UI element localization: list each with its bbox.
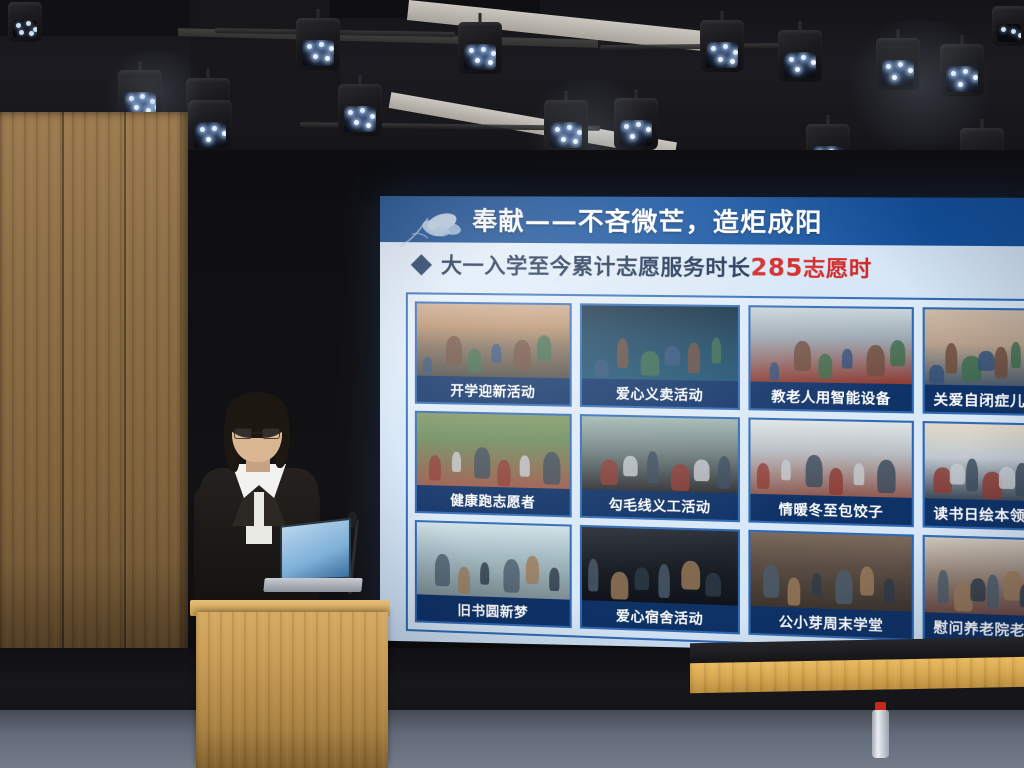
photo-figure xyxy=(681,560,700,589)
photo-figure xyxy=(1020,583,1024,608)
photo-figure xyxy=(711,338,720,364)
photo-card[interactable]: 爱心宿舍活动 xyxy=(580,525,741,635)
photo-caption: 健康跑志愿者 xyxy=(417,485,569,515)
stage-light-fixture xyxy=(338,84,382,136)
photo-scene xyxy=(925,309,1024,386)
photo-figure xyxy=(634,568,649,591)
photo-column-4: 关爱自闭症儿读书日绘本领慰问养老院老 xyxy=(923,307,1024,645)
stage-light-fixture xyxy=(940,44,984,96)
photo-figure xyxy=(853,463,864,485)
photo-figure xyxy=(458,566,470,594)
photo-figure xyxy=(624,455,638,476)
photo-caption: 勾毛线义工活动 xyxy=(582,489,739,520)
photo-scene xyxy=(417,413,569,489)
photo-figure xyxy=(829,467,843,494)
bottle-body xyxy=(872,710,889,758)
photo-caption: 关爱自闭症儿 xyxy=(925,384,1024,413)
photo-caption: 爱心义卖活动 xyxy=(582,379,739,408)
presentation-slide: 奉献——不吝微芒，造炬成阳 大一入学至今累计志愿服务时长285志愿时 开学迎新活… xyxy=(380,196,1024,694)
photo-thumbnail xyxy=(582,527,739,606)
slide-title: 奉献——不吝微芒，造炬成阳 xyxy=(472,201,823,239)
photo-figure xyxy=(588,559,598,592)
laptop-screen[interactable] xyxy=(280,518,351,581)
photo-card[interactable]: 旧书圆新梦 xyxy=(415,520,572,628)
photo-figure xyxy=(938,570,949,604)
photo-figure xyxy=(884,579,895,603)
stage-light-fixture xyxy=(296,18,340,70)
photo-figure xyxy=(468,348,481,372)
photo-figure xyxy=(452,451,461,471)
photo-figure xyxy=(970,579,985,603)
photo-figure xyxy=(658,564,669,598)
photo-figure xyxy=(794,341,811,371)
photo-figure xyxy=(600,459,618,485)
photo-figure xyxy=(694,460,710,482)
photo-figure xyxy=(770,362,780,381)
photo-scene xyxy=(751,420,912,498)
slide-title-bar: 奉献——不吝微芒，造炬成阳 xyxy=(380,196,1024,246)
photo-grid-frame: 开学迎新活动健康跑志愿者旧书圆新梦爱心义卖活动勾毛线义工活动爱心宿舍活动教老人用… xyxy=(406,292,1024,655)
photo-figure xyxy=(999,467,1015,489)
photo-columns: 开学迎新活动健康跑志愿者旧书圆新梦爱心义卖活动勾毛线义工活动爱心宿舍活动教老人用… xyxy=(415,301,1024,645)
photo-card[interactable]: 关爱自闭症儿 xyxy=(923,307,1024,416)
photo-figure xyxy=(812,573,822,596)
photo-card[interactable]: 爱心义卖活动 xyxy=(580,303,741,410)
photo-card[interactable]: 勾毛线义工活动 xyxy=(580,414,741,522)
photo-caption: 情暖冬至包饺子 xyxy=(751,494,912,525)
photo-figure xyxy=(805,455,822,488)
photo-figure xyxy=(1011,342,1021,368)
photo-scene xyxy=(582,305,739,381)
photo-figure xyxy=(503,559,519,593)
stage-light-fixture xyxy=(700,20,744,72)
stage-light-fixture xyxy=(544,100,588,152)
photo-thumbnail xyxy=(582,416,739,493)
photo-figure xyxy=(781,459,791,480)
photo-thumbnail xyxy=(925,537,1024,616)
stage-light-fixture xyxy=(778,30,822,82)
projection-screen[interactable]: 奉献——不吝微芒，造炬成阳 大一入学至今累计志愿服务时长285志愿时 开学迎新活… xyxy=(380,196,1024,694)
photo-column-2: 爱心义卖活动勾毛线义工活动爱心宿舍活动 xyxy=(580,303,741,634)
stage-light-fixture xyxy=(458,22,502,74)
photo-figure xyxy=(718,456,731,489)
photo-figure xyxy=(978,351,994,371)
photo-thumbnail xyxy=(417,303,569,378)
photo-thumbnail xyxy=(925,423,1024,501)
photo-scene xyxy=(751,532,912,612)
photo-figure xyxy=(664,347,680,367)
photo-thumbnail xyxy=(417,413,569,489)
photo-card[interactable]: 开学迎新活动 xyxy=(415,301,572,406)
photo-figure xyxy=(423,356,432,374)
photo-figure xyxy=(520,456,530,477)
photo-figure xyxy=(480,563,489,585)
photo-figure xyxy=(950,463,965,484)
photo-figure xyxy=(994,347,1007,379)
slide-subtitle: 大一入学至今累计志愿服务时长285志愿时 xyxy=(441,249,872,283)
photo-caption: 爱心宿舍活动 xyxy=(582,600,739,632)
stage-ledge-wood xyxy=(690,657,1024,694)
photo-card[interactable]: 情暖冬至包饺子 xyxy=(749,417,914,527)
eyeglasses-icon xyxy=(234,428,280,439)
photo-caption: 开学迎新活动 xyxy=(417,376,569,405)
volunteer-hours-unit: 志愿时 xyxy=(803,256,872,281)
photo-thumbnail xyxy=(751,307,912,384)
photo-thumbnail xyxy=(751,420,912,498)
photo-caption: 教老人用智能设备 xyxy=(751,381,912,411)
photo-figure xyxy=(688,342,701,373)
photo-figure xyxy=(945,343,957,374)
photo-figure xyxy=(966,459,978,492)
photo-figure xyxy=(491,344,501,363)
photo-card[interactable]: 公小芽周末学堂 xyxy=(749,530,914,641)
photo-figure xyxy=(705,573,721,597)
diamond-bullet-icon xyxy=(411,254,432,275)
stage-light-fixture xyxy=(188,100,232,152)
photo-figure xyxy=(836,570,853,605)
photo-scene xyxy=(925,423,1024,501)
stage-light-fixture xyxy=(876,38,920,90)
photo-figure xyxy=(757,463,770,489)
photo-scene xyxy=(925,537,1024,616)
podium xyxy=(196,612,388,768)
photo-figure xyxy=(987,574,999,609)
photo-caption: 读书日绘本领 xyxy=(925,498,1024,528)
photo-figure xyxy=(526,555,539,584)
auditorium-scene: 奉献——不吝微芒，造炬成阳 大一入学至今累计志愿服务时长285志愿时 开学迎新活… xyxy=(0,0,1024,768)
photo-figure xyxy=(611,571,629,599)
photo-scene xyxy=(582,527,739,606)
stage-light-fixture xyxy=(992,6,1024,46)
photo-figure xyxy=(866,345,884,376)
photo-card[interactable]: 教老人用智能设备 xyxy=(749,305,914,413)
photo-card[interactable]: 健康跑志愿者 xyxy=(415,411,572,518)
photo-figure xyxy=(514,340,531,371)
photo-figure xyxy=(549,568,559,592)
photo-figure xyxy=(543,451,560,484)
subtitle-prefix: 大一入学至今累计志愿服务时长 xyxy=(441,253,751,280)
photo-scene xyxy=(582,416,739,493)
laptop-keyboard[interactable] xyxy=(263,578,362,592)
water-bottle xyxy=(872,702,889,758)
photo-figure xyxy=(842,349,853,369)
photo-figure xyxy=(429,455,441,480)
photo-figure xyxy=(788,577,801,605)
photo-figure xyxy=(617,339,628,369)
photo-figure xyxy=(446,336,462,365)
photo-figure xyxy=(860,566,874,596)
volunteer-hours-number: 285 xyxy=(751,255,803,282)
photo-scene xyxy=(417,303,569,378)
photo-card[interactable]: 慰问养老院老 xyxy=(923,535,1024,646)
photo-scene xyxy=(417,522,569,600)
photo-figure xyxy=(764,565,780,599)
stage-light-fixture xyxy=(8,2,42,42)
photo-figure xyxy=(537,336,551,362)
photo-figure xyxy=(647,451,658,483)
photo-thumbnail xyxy=(582,305,739,381)
photo-figure xyxy=(435,554,450,587)
photo-figure xyxy=(670,464,689,491)
photo-scene xyxy=(751,307,912,384)
photo-thumbnail xyxy=(417,522,569,600)
photo-column-3: 教老人用智能设备情暖冬至包饺子公小芽周末学堂 xyxy=(749,305,914,641)
photo-caption: 公小芽周末学堂 xyxy=(751,606,912,639)
photo-thumbnail xyxy=(925,309,1024,386)
photo-figure xyxy=(891,341,906,367)
photo-figure xyxy=(594,359,608,378)
slide-subtitle-row: 大一入学至今累计志愿服务时长285志愿时 xyxy=(380,242,1024,293)
photo-card[interactable]: 读书日绘本领 xyxy=(923,421,1024,531)
photo-figure xyxy=(878,459,896,493)
photo-figure xyxy=(474,447,490,479)
photo-figure xyxy=(818,353,832,378)
photo-caption: 旧书圆新梦 xyxy=(417,594,569,626)
stage-light-fixture xyxy=(614,98,658,150)
photo-figure xyxy=(641,351,660,376)
photo-column-1: 开学迎新活动健康跑志愿者旧书圆新梦 xyxy=(415,301,572,628)
photo-thumbnail xyxy=(751,532,912,612)
photo-figure xyxy=(1015,463,1024,497)
floor-front-strip xyxy=(0,710,1024,768)
photo-figure xyxy=(497,459,510,486)
photo-figure xyxy=(929,364,944,383)
